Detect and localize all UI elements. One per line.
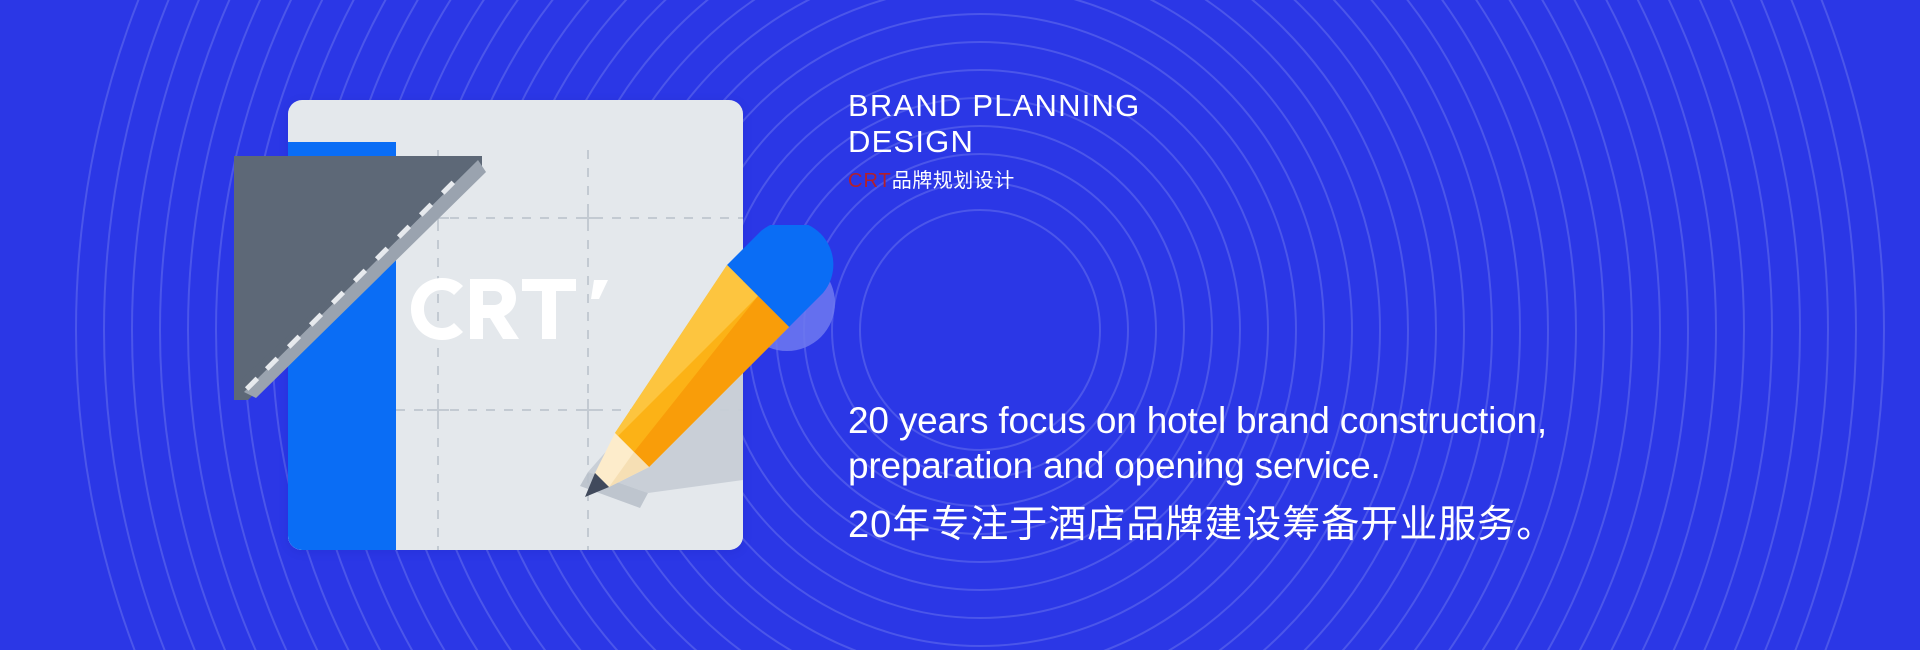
brand-banner: BRAND PLANNING DESIGN CRT品牌规划设计 20 years… bbox=[0, 0, 1920, 650]
pencil-icon bbox=[575, 225, 860, 545]
brand-subtitle: CRT品牌规划设计 bbox=[848, 168, 1608, 194]
brand-subtitle-mark: CRT bbox=[848, 170, 892, 192]
slogan-english: 20 years focus on hotel brand constructi… bbox=[848, 398, 1748, 488]
brand-subtitle-text: 品牌规划设计 bbox=[892, 170, 1015, 192]
hero-illustration bbox=[0, 0, 900, 650]
slogan-block: 20 years focus on hotel brand constructi… bbox=[848, 398, 1748, 548]
brand-heading-block: BRAND PLANNING DESIGN CRT品牌规划设计 bbox=[848, 88, 1608, 194]
brand-title: BRAND PLANNING DESIGN bbox=[848, 88, 1608, 160]
slogan-chinese: 20年专注于酒店品牌建设筹备开业服务。 bbox=[848, 502, 1748, 548]
set-square-ruler-icon bbox=[228, 150, 488, 405]
